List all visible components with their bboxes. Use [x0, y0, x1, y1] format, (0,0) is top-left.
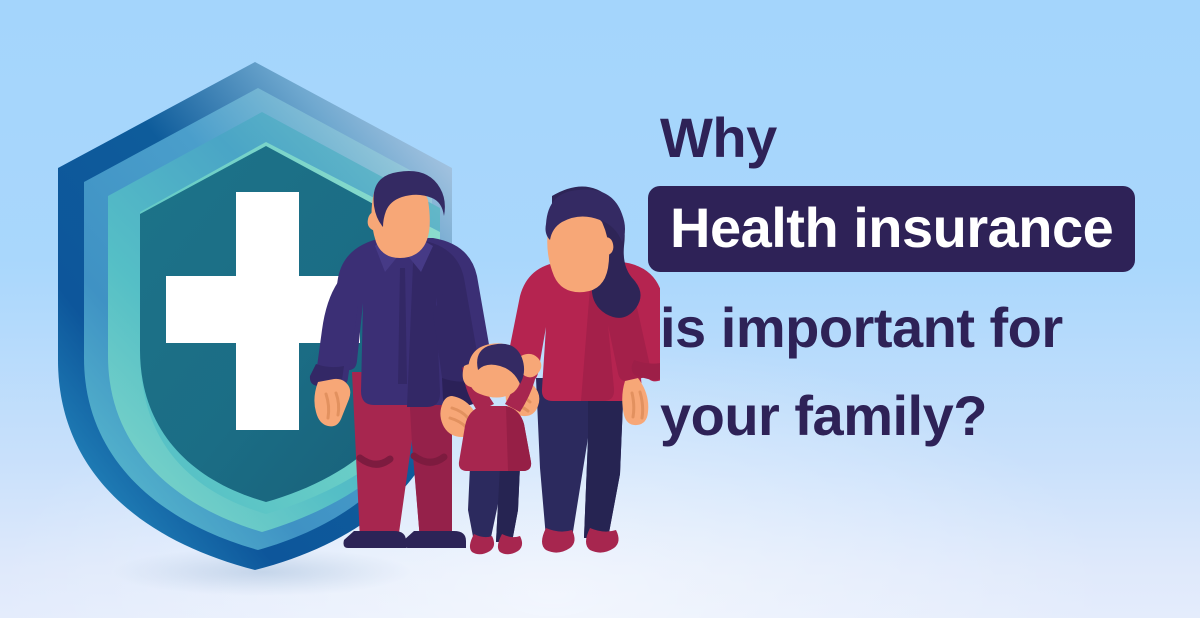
headline-line-2-highlighted: Health insurance — [670, 200, 1113, 256]
mother-hand-right — [622, 378, 648, 425]
headline-line-1: Why — [660, 110, 1200, 166]
health-insurance-banner: Why Health insurance is important for yo… — [0, 0, 1200, 618]
mother-shoe-right — [586, 528, 619, 553]
child-shoe-left — [470, 534, 494, 554]
father-shoe-right — [404, 531, 467, 548]
headline-line-3: is important for — [660, 300, 1200, 356]
shield-and-family-illustration — [0, 0, 660, 618]
mother-pants-shade — [584, 378, 624, 538]
headline-highlight-box: Health insurance — [648, 186, 1135, 272]
child-pants-shade — [496, 466, 520, 542]
child-shoe-right — [498, 534, 522, 554]
headline-line-4: your family? — [660, 388, 1200, 444]
figure-child — [459, 343, 541, 554]
father-shoe-left — [344, 531, 407, 548]
mother-shoe-left — [542, 528, 575, 553]
headline-block: Why Health insurance is important for yo… — [648, 110, 1200, 444]
